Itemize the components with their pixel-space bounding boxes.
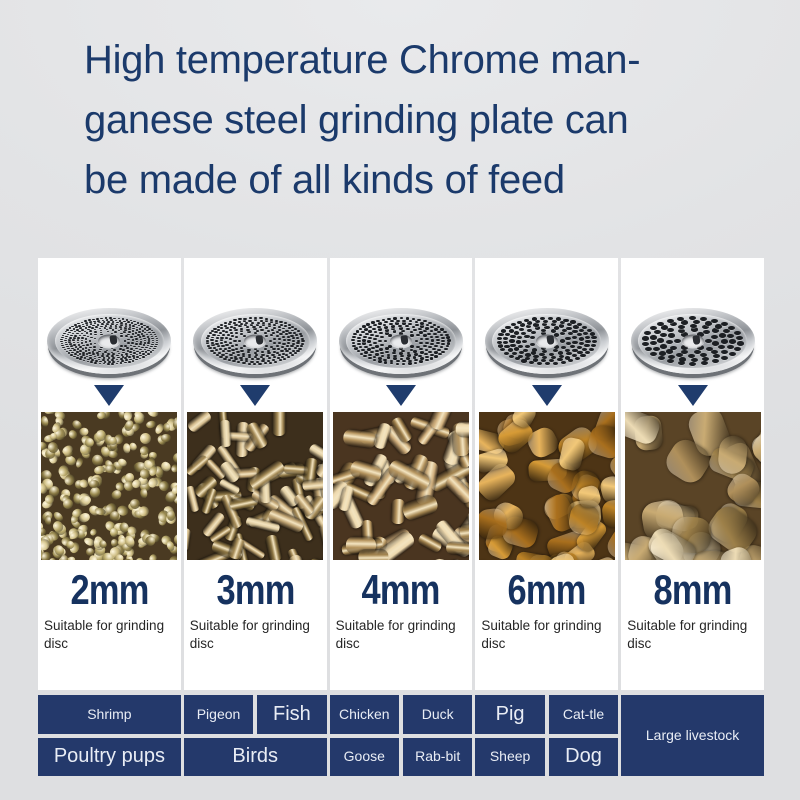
animal-tag-grid: ShrimpPoultry pups (38, 695, 181, 776)
grinding-plate-columns: 2mmSuitable for grinding discShrimpPoult… (38, 258, 764, 776)
animal-tag-row-1: PigCat-tle (475, 695, 618, 734)
headline-line: High temperature Chrome man- (84, 30, 724, 90)
disc-center-hole (682, 335, 704, 348)
disc-center-hole (536, 335, 558, 348)
animal-tag-cat-tle[interactable]: Cat-tle (549, 695, 618, 734)
suitability-caption: Suitable for grinding disc (475, 611, 618, 653)
arrow-down-icon (240, 378, 270, 412)
arrow-down-icon (678, 378, 708, 412)
animal-tag-grid: Large livestock (621, 695, 764, 776)
size-label: 3mm (216, 569, 294, 611)
size-label: 2mm (70, 569, 148, 611)
animal-tag-large-livestock[interactable]: Large livestock (621, 695, 764, 776)
grinding-disc (475, 258, 618, 378)
animal-tag-row-2: SheepDog (475, 738, 618, 777)
arrow-down-icon (94, 378, 124, 412)
suitability-caption: Suitable for grinding disc (38, 611, 181, 653)
feed-column-3mm: 3mmSuitable for grinding discPigeonFishB… (184, 258, 327, 776)
column-card: 8mmSuitable for grinding disc (621, 258, 764, 690)
arrow-down-icon (386, 378, 416, 412)
grinding-disc (38, 258, 181, 378)
column-card: 3mmSuitable for grinding disc (184, 258, 327, 690)
size-label: 6mm (508, 569, 586, 611)
suitability-caption: Suitable for grinding disc (330, 611, 473, 653)
grinding-disc (330, 258, 473, 378)
animal-tag-dog[interactable]: Dog (549, 738, 618, 777)
disc-center-hole (98, 335, 120, 348)
animal-tag-poultry-pups[interactable]: Poultry pups (38, 738, 181, 777)
feed-column-2mm: 2mmSuitable for grinding discShrimpPoult… (38, 258, 181, 776)
grinding-disc (621, 258, 764, 378)
animal-tag-duck[interactable]: Duck (403, 695, 472, 734)
golden-chunky-pellets (479, 412, 615, 560)
animal-tag-grid: ChickenDuckGooseRab-bit (330, 695, 473, 776)
feed-column-6mm: 6mmSuitable for grinding discPigCat-tleS… (475, 258, 618, 776)
size-label: 8mm (654, 569, 732, 611)
column-card: 6mmSuitable for grinding disc (475, 258, 618, 690)
headline-line: ganese steel grinding plate can (84, 90, 724, 150)
column-card: 4mmSuitable for grinding disc (330, 258, 473, 690)
page-headline: High temperature Chrome man-ganese steel… (84, 30, 724, 210)
animal-tag-row-2: Birds (184, 738, 327, 777)
animal-tag-pig[interactable]: Pig (475, 695, 544, 734)
animal-tag-chicken[interactable]: Chicken (330, 695, 399, 734)
animal-tag-row-1: Shrimp (38, 695, 181, 734)
animal-tag-birds[interactable]: Birds (184, 738, 327, 777)
animal-tag-goose[interactable]: Goose (330, 738, 399, 777)
size-label: 4mm (362, 569, 440, 611)
feed-column-8mm: 8mmSuitable for grinding discLarge lives… (621, 258, 764, 776)
animal-tag-sheep[interactable]: Sheep (475, 738, 544, 777)
animal-tag-row-2: Poultry pups (38, 738, 181, 777)
animal-tag-fish[interactable]: Fish (257, 695, 326, 734)
headline-line: be made of all kinds of feed (84, 150, 724, 210)
grinding-disc (184, 258, 327, 378)
animal-tag-rab-bit[interactable]: Rab-bit (403, 738, 472, 777)
animal-tag-shrimp[interactable]: Shrimp (38, 695, 181, 734)
shrimp-feed-pellets (41, 412, 177, 560)
large-straw-pellets (625, 412, 761, 560)
thin-rod-feed-pellets (187, 412, 323, 560)
suitability-caption: Suitable for grinding disc (184, 611, 327, 653)
disc-center-hole (244, 335, 266, 348)
feed-column-4mm: 4mmSuitable for grinding discChickenDuck… (330, 258, 473, 776)
column-card: 2mmSuitable for grinding disc (38, 258, 181, 690)
suitability-caption: Suitable for grinding disc (621, 611, 764, 653)
infographic-page: High temperature Chrome man-ganese steel… (0, 0, 800, 800)
animal-tag-row-2: GooseRab-bit (330, 738, 473, 777)
animal-tag-pigeon[interactable]: Pigeon (184, 695, 253, 734)
medium-feed-pellets (333, 412, 469, 560)
arrow-down-icon (532, 378, 562, 412)
disc-center-hole (390, 335, 412, 348)
animal-tag-row-1: ChickenDuck (330, 695, 473, 734)
animal-tag-row-1: PigeonFish (184, 695, 327, 734)
animal-tag-grid: PigCat-tleSheepDog (475, 695, 618, 776)
animal-tag-grid: PigeonFishBirds (184, 695, 327, 776)
